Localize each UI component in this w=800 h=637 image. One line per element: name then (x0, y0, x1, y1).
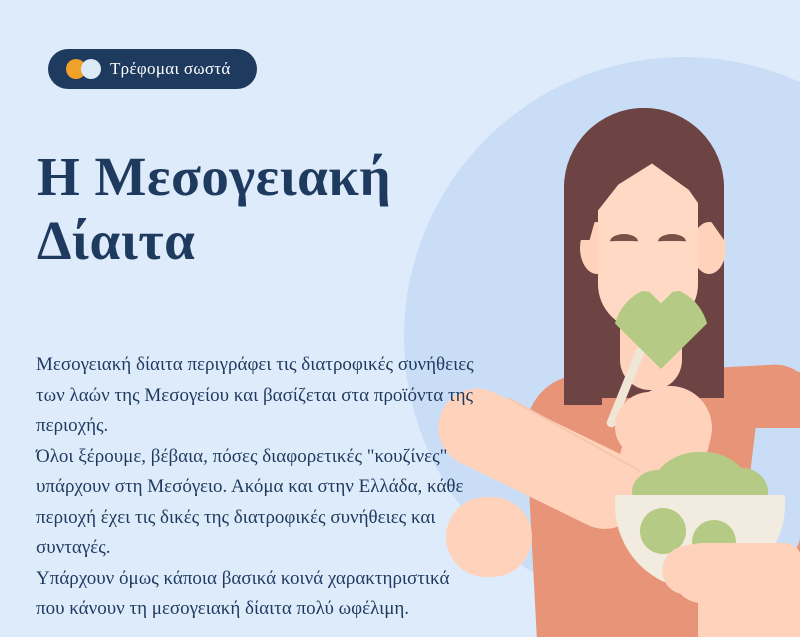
body-paragraph-3: Υπάρχουν όμως κάποια βασικά κοινά χαρακτ… (36, 564, 476, 625)
hand-holding-fork (615, 392, 691, 458)
body-paragraph-2: Όλοι ξέρουμε, βέβαια, πόσες διαφορετικές… (36, 442, 476, 564)
brand-dots-icon (66, 59, 104, 79)
poster-canvas: Τρέφομαι σωστά Η Μεσογειακή Δίαιτα Μεσογ… (0, 0, 800, 637)
page-title: Η Μεσογειακή Δίαιτα (37, 145, 457, 273)
body-copy: Μεσογειακή δίαιτα περιγράφει τις διατροφ… (36, 350, 476, 625)
brand-dot-pale-icon (81, 59, 101, 79)
eye-left-closed-icon (610, 234, 638, 249)
brand-badge: Τρέφομαι σωστά (48, 49, 257, 89)
body-paragraph-1: Μεσογειακή δίαιτα περιγράφει τις διατροφ… (36, 350, 476, 442)
brand-badge-label: Τρέφομαι σωστά (110, 59, 231, 79)
hand-holding-bowl (672, 543, 800, 603)
woman-eating-salad-illustration (440, 0, 800, 637)
eye-right-closed-icon (658, 234, 686, 249)
